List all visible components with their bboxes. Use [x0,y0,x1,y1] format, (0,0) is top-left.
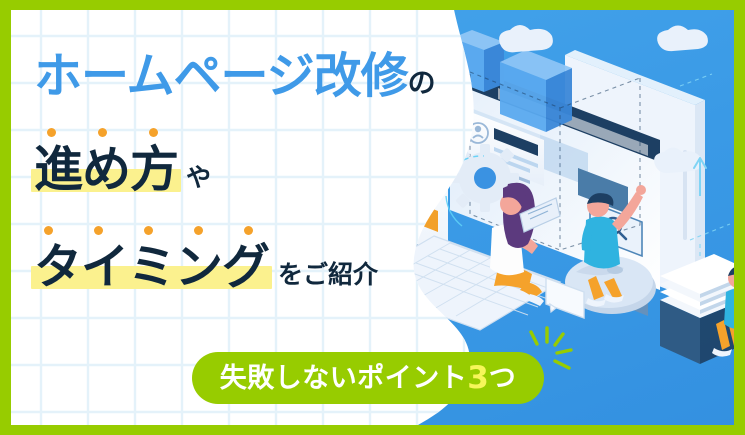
headline-line3-suffix: をご紹介 [278,260,378,289]
headline-line-1: ホームページ改修の [34,52,436,100]
headline-line-2: 進め方 や [34,145,211,194]
badge-text-before: 失敗しないポイント [220,365,468,392]
emphasis-dots-line2 [47,128,158,137]
emphasis-dot [98,128,107,137]
emphasis-dot [144,226,153,235]
headline-line1-main: ホームページ改修 [34,48,408,104]
emphasis-dots-line3 [44,226,253,235]
headline-line3-highlight: タイミング [34,239,269,295]
headline-line3-highlight-wrap: タイミング [34,243,269,291]
emphasis-dot [44,226,53,235]
frame-border-left [0,0,11,435]
points-badge: 失敗しないポイント3つ [192,352,544,404]
emphasis-dot [244,226,253,235]
emphasis-dot [94,226,103,235]
frame-border-top [0,0,745,10]
headline-line2-highlight-wrap: 進め方 [34,145,178,194]
headline-line-3: タイミング をご紹介 [34,243,378,291]
emphasis-dot [47,128,56,137]
banner-root: ホームページ改修の 進め方 や タイミング をご紹介 [0,0,745,435]
headline-line2-highlight: 進め方 [34,141,178,198]
frame-border-bottom [0,425,745,435]
badge-text-after: つ [489,365,517,392]
headline-line1-suffix: の [408,66,436,99]
emphasis-dot [194,226,203,235]
sparkle-burst-icon [519,326,575,378]
frame-border-right [734,0,745,435]
headline-line2-suffix: や [186,163,211,192]
badge-number: 3 [467,360,489,396]
emphasis-dot [149,128,158,137]
